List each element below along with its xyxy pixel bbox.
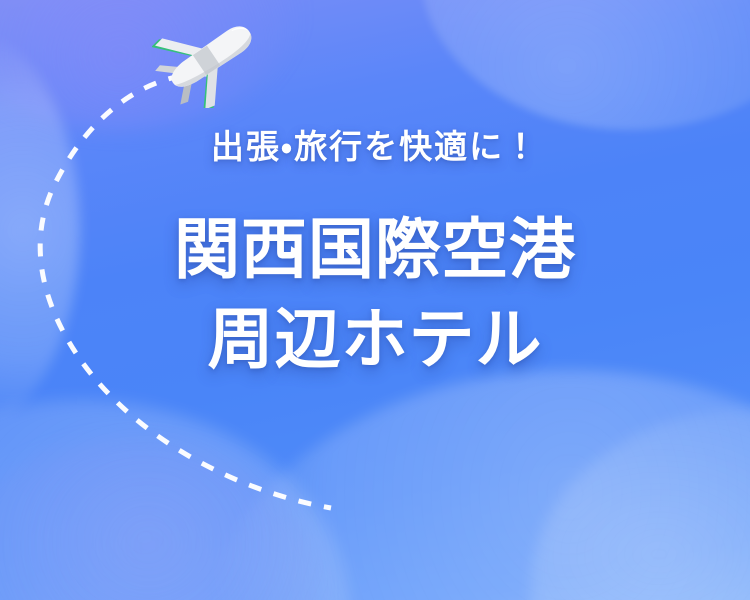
hero-banner: 出張・旅行を快適に！ 関西国際空港 周辺ホテル — [0, 0, 750, 600]
hero-subtitle: 出張・旅行を快適に！ — [211, 126, 539, 167]
hero-text-stack: 出張・旅行を快適に！ 関西国際空港 周辺ホテル — [0, 0, 750, 600]
decorative-blob-bottom-left-violet — [0, 440, 320, 600]
hero-title-line-2: 周辺ホテル — [174, 295, 576, 385]
decorative-blob-top-right — [420, 0, 750, 130]
dashed-flight-path-icon — [0, 0, 750, 600]
hero-title: 関西国際空港 周辺ホテル — [174, 205, 576, 385]
decorative-blob-bottom-center — [200, 370, 750, 600]
decorative-blob-bottom-right — [530, 410, 750, 600]
decorative-blob-bottom-left — [0, 400, 350, 600]
hero-title-line-1: 関西国際空港 — [174, 205, 576, 295]
decorative-blob-left-edge — [0, 30, 80, 430]
airplane-icon — [152, 12, 262, 108]
